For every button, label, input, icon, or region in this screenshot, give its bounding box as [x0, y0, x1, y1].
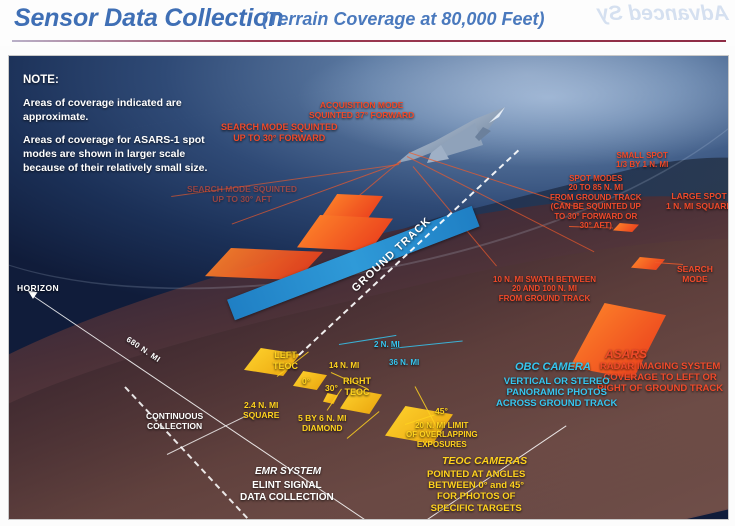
page-root: Advanced Sy Sensor Data Collection (Terr… [0, 0, 735, 526]
search-mode-aft-label: SEARCH MODE SQUINTED UP TO 30° AFT [187, 184, 297, 204]
dist-14nmi-label: 14 N. MI [329, 361, 359, 370]
acquisition-mode-label: ACQUISITION MODE SQUINTED 37° FORWARD [309, 100, 414, 120]
dist-2nmi-label: 2 N. MI [374, 340, 400, 349]
small-spot-label: SMALL SPOT 1/3 BY 1 N. MI [616, 151, 668, 170]
large-spot-label: LARGE SPOT 1 N. MI SQUARE [666, 191, 729, 211]
illustration-plate: NOTE: Areas of coverage indicated are ap… [8, 55, 729, 520]
note-panel: NOTE: Areas of coverage indicated are ap… [23, 74, 227, 184]
showthrough-text: Advanced Sy [597, 2, 729, 26]
continuous-collection-label: CONTINUOUS COLLECTION [146, 411, 203, 431]
square-24-label: 2.4 N. MI SQUARE [243, 400, 279, 420]
emr-title-label: EMR SYSTEM [255, 466, 321, 478]
search-mode-forward-label: SEARCH MODE SQUINTED UP TO 30° FORWARD [221, 122, 338, 143]
obc-title-label: OBC CAMERA [515, 361, 591, 374]
note-paragraph-1: Areas of coverage indicated are approxim… [23, 96, 227, 124]
teoc-body-label: POINTED AT ANGLES BETWEEN 0° and 45° FOR… [427, 469, 525, 514]
dist-36nmi-label: 36 N. MI [389, 358, 419, 367]
emr-body-label: ELINT SIGNAL DATA COLLECTION [240, 480, 334, 504]
horizon-left-label: HORIZON [17, 283, 59, 293]
angle-0-label: 0° [302, 376, 310, 386]
teoc-title-label: TEOC CAMERAS [442, 455, 527, 467]
note-paragraph-2: Areas of coverage for ASARS-1 spot modes… [23, 133, 227, 175]
swath-note-label: 10 N. MI SWATH BETWEEN 20 AND 100 N. MI … [493, 275, 596, 303]
page-subtitle: (Terrain Coverage at 80,000 Feet) [262, 9, 544, 30]
overlap-limit-label: 20 N. MI LIMIT OF OVERLAPPING EXPOSURES [406, 421, 478, 449]
title-rule [12, 40, 726, 42]
search-mode-right-label: SEARCH MODE [677, 264, 713, 284]
right-teoc-label: RIGHT TEOC [343, 376, 371, 397]
page-title: Sensor Data Collection [14, 4, 283, 33]
left-teoc-label: LEFT TEOC [273, 350, 298, 371]
diamond-56-label: 5 BY 6 N. MI DIAMOND [298, 413, 347, 433]
note-heading: NOTE: [23, 74, 227, 86]
spot-modes-label: SPOT MODES 20 TO 85 N. MI FROM GROUND TR… [550, 174, 642, 231]
asars-title-label: ASARS [605, 347, 647, 361]
angle-45-label: 45° [435, 406, 448, 416]
page-header: Advanced Sy Sensor Data Collection (Terr… [0, 0, 735, 46]
obc-body-label: VERTICAL OR STEREO PANORAMIC PHOTOS ACRO… [496, 376, 617, 410]
angle-30-label: 30° [325, 383, 338, 393]
